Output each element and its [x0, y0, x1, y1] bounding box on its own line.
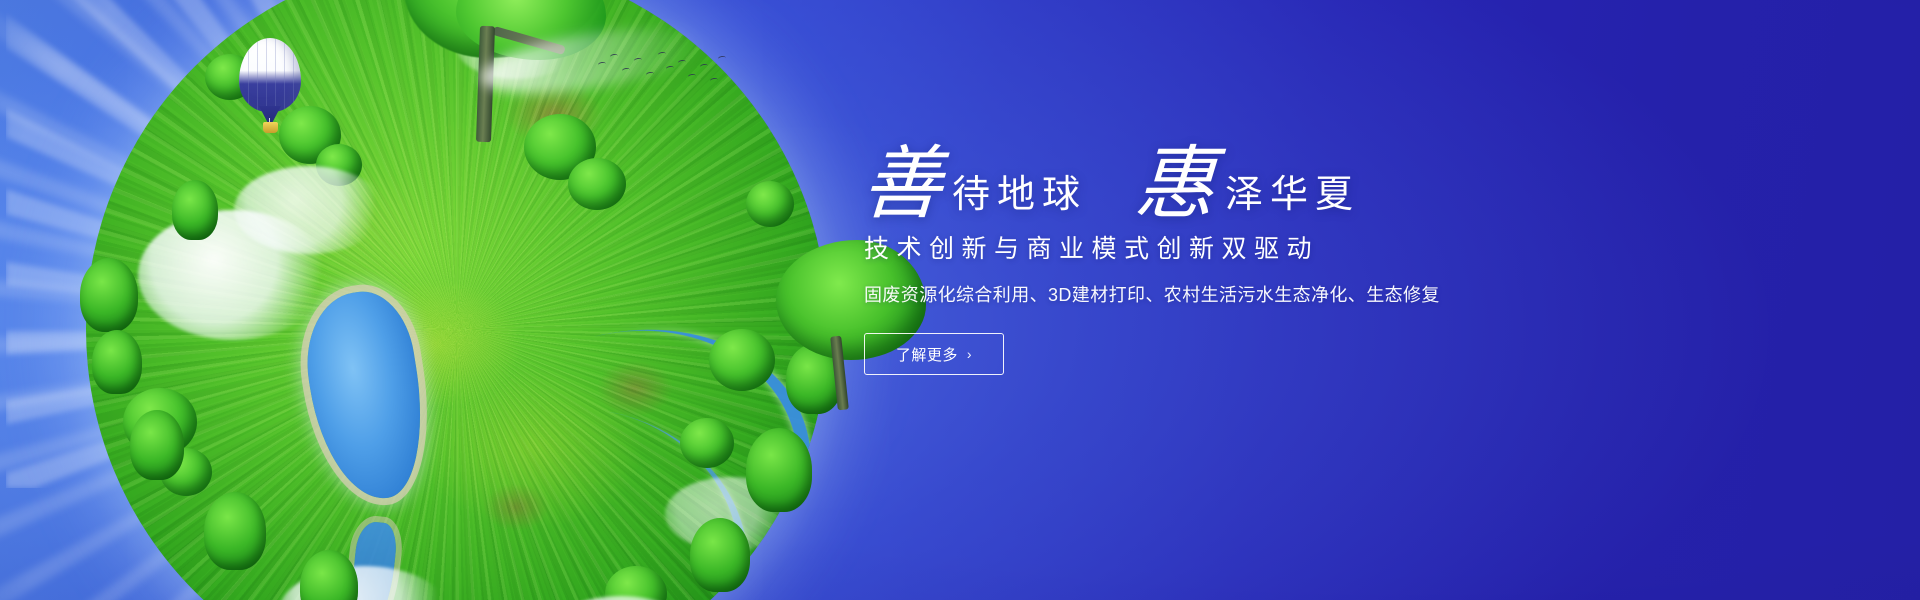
bird-icon: [710, 77, 719, 83]
headline-char-1: 善: [860, 147, 944, 224]
bird-icon: [658, 51, 667, 57]
balloon-taper: [259, 106, 281, 122]
bird-icon: [646, 71, 655, 77]
headline-phrase-2: 泽华夏: [1215, 176, 1360, 224]
bird-icon: [700, 63, 709, 69]
description-line: 固废资源化综合利用、3D建材打印、农村生活污水生态净化、生态修复: [864, 283, 1622, 308]
bird-icon: [678, 59, 687, 65]
tree-cluster: [746, 181, 794, 227]
rim-tree: [204, 492, 266, 570]
bird-icon: [666, 65, 675, 71]
learn-more-button[interactable]: 了解更多 ›: [864, 333, 1004, 375]
rim-tree: [690, 518, 750, 592]
hot-air-balloon-icon: [239, 38, 301, 134]
bird-icon: [598, 61, 607, 67]
bird-icon: [610, 53, 619, 59]
rim-tree: [172, 180, 218, 240]
headline-phrase-1: 待地球: [942, 176, 1087, 224]
rim-tree: [746, 428, 812, 512]
headline-char-2: 惠: [1133, 147, 1217, 224]
chevron-right-icon: ›: [967, 347, 972, 361]
tree-cluster: [680, 418, 734, 468]
bird-icon: [634, 57, 643, 63]
learn-more-label: 了解更多: [896, 344, 958, 365]
hero-banner: 善 待地球 惠 泽华夏 技术创新与商业模式创新双驱动 固废资源化综合利用、3D建…: [0, 0, 1920, 600]
subtitle: 技术创新与商业模式创新双驱动: [864, 234, 1622, 265]
bird-icon: [718, 55, 727, 61]
balloon-basket: [263, 122, 278, 133]
rim-tree: [80, 258, 138, 332]
bird-icon: [688, 73, 697, 79]
rim-tree: [130, 410, 184, 480]
birds-flock-icon: [596, 48, 726, 94]
headline: 善 待地球 惠 泽华夏: [862, 132, 1622, 224]
cloud: [234, 166, 384, 254]
rim-tree: [92, 330, 142, 394]
copy-block: 善 待地球 惠 泽华夏 技术创新与商业模式创新双驱动 固废资源化综合利用、3D建…: [862, 132, 1622, 375]
tree-cluster: [709, 329, 775, 391]
balloon-seams: [239, 38, 301, 112]
bird-icon: [622, 67, 631, 73]
